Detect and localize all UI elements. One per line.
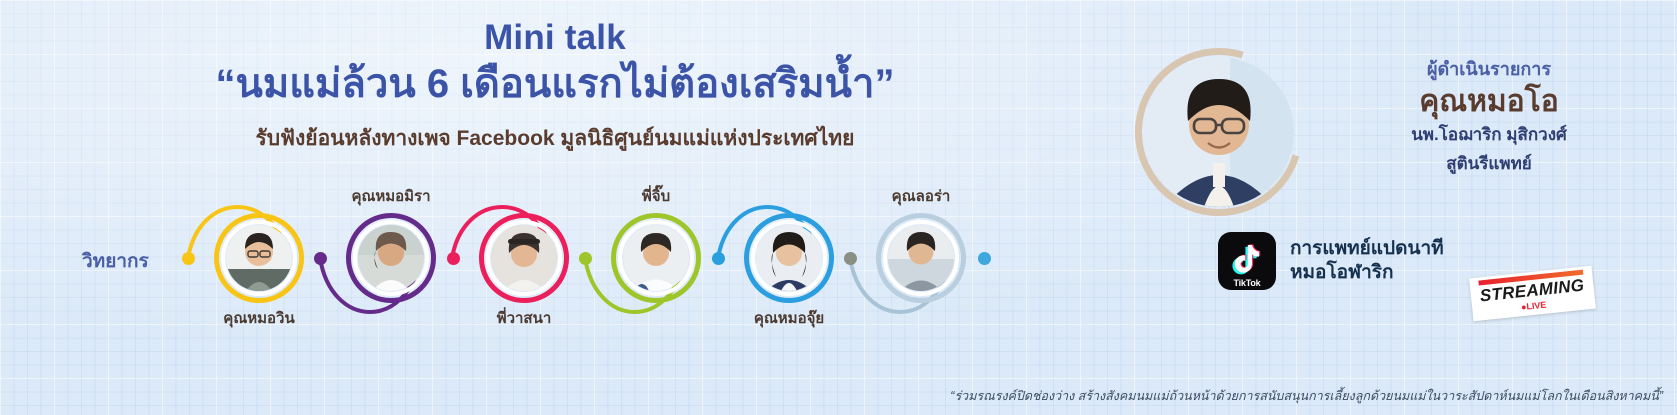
host-avatar [1144,57,1294,207]
tiktok-channel-row[interactable]: TikTok การแพทย์แปดนาที หมอโอฬาริก [1218,232,1444,290]
speaker-name: คุณหมอมิรา [281,184,501,208]
speaker-avatar [358,225,424,291]
speaker-avatar [756,225,822,291]
tiktok-channel-line2: หมอโอฬาริก [1290,261,1444,285]
speaker-name: คุณหมอจุ๊ย [679,306,899,330]
promo-banner: Mini talk “นมแม่ล้วน 6 เดือนแรกไม่ต้องเส… [0,0,1677,415]
timeline-dot [447,252,460,265]
timeline-dot [844,252,857,265]
host-specialty: สูตินรีแพทย์ [1303,153,1675,176]
campaign-note: “ร่วมรณรงค์ปิดช่องว่าง สร้างสังคมนมแม่ถ้… [0,386,1663,406]
speaker-avatar [226,225,292,291]
event-type-title: Mini talk [0,18,1110,57]
host-photo-frame [1135,48,1303,216]
speaker-node[interactable]: พี่วาสนา [479,213,569,303]
timeline-dot [579,252,592,265]
tiktok-channel-name: การแพทย์แปดนาที หมอโอฬาริก [1290,237,1444,285]
speaker-name: คุณหมอวิน [149,306,369,330]
host-fullname: นพ.โอฌาริก มุสิกวงศ์ [1303,124,1675,147]
event-topic-title: “นมแม่ล้วน 6 เดือนแรกไม่ต้องเสริมน้ำ” [0,59,1110,109]
timeline-dot [314,252,327,265]
speaker-node[interactable]: คุณหมอวิน [214,213,304,303]
speaker-name: คุณลอร่า [811,184,1031,208]
speaker-name: พี่จิ๊บ [546,184,766,208]
speaker-node[interactable]: คุณหมอมิรา [346,213,436,303]
host-details: ผู้ดำเนินรายการ คุณหมอโอ นพ.โอฌาริก มุสิ… [1303,54,1675,176]
host-role-label: ผู้ดำเนินรายการ [1303,54,1675,83]
tiktok-wordmark: TikTok [1218,278,1276,288]
speaker-avatar [888,225,954,291]
headline-block: Mini talk “นมแม่ล้วน 6 เดือนแรกไม่ต้องเส… [0,18,1110,155]
speaker-node[interactable]: คุณลอร่า [876,213,966,303]
speaker-node[interactable]: พี่จิ๊บ [611,213,701,303]
event-subtitle: รับฟังย้อนหลังทางเพจ Facebook มูลนิธิศูน… [0,122,1110,155]
tiktok-channel-line1: การแพทย์แปดนาที [1290,237,1444,261]
speaker-avatar [623,225,689,291]
timeline-dot [712,252,725,265]
speaker-node[interactable]: คุณหมอจุ๊ย [744,213,834,303]
speaker-avatar [491,225,557,291]
tiktok-icon[interactable]: TikTok [1218,232,1276,290]
speaker-name: พี่วาสนา [414,306,634,330]
timeline-dot [182,252,195,265]
timeline-dot [978,252,991,265]
host-nickname: คุณหมอโอ [1303,85,1675,118]
streaming-badge: STREAMING ●LIVE [1469,266,1596,322]
speakers-timeline: คุณหมอวิน คุณหมอมิรา [0,180,1110,345]
